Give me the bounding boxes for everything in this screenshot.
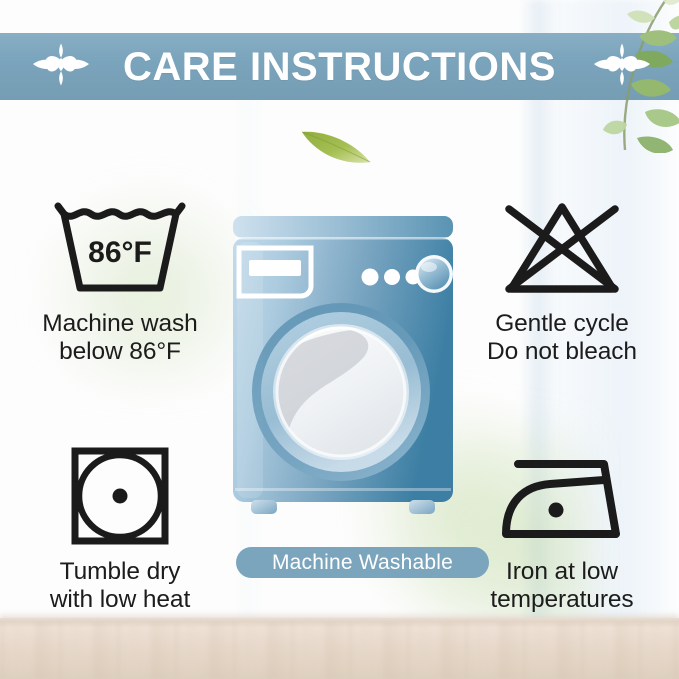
fleur-de-lis-icon xyxy=(30,41,92,92)
wash-tub-icon: 86°F xyxy=(10,192,230,304)
badge-label: Machine Washable xyxy=(272,552,453,573)
tumble-dry-icon xyxy=(10,440,230,552)
care-symbol-label: Machine wash below 86°F xyxy=(10,310,230,367)
care-symbol-machine-wash: 86°F Machine wash below 86°F xyxy=(10,192,230,367)
page-title: CARE INSTRUCTIONS xyxy=(123,47,556,87)
washing-machine-illustration xyxy=(229,214,457,524)
label-line-1: Machine wash xyxy=(10,310,230,338)
control-knob xyxy=(415,255,453,293)
label-line-2: below 86°F xyxy=(10,338,230,366)
fleur-de-lis-icon xyxy=(591,41,653,92)
floating-leaf-icon xyxy=(296,118,376,170)
washer-foot xyxy=(409,500,435,514)
care-symbol-label: Tumble dry with low heat xyxy=(10,558,230,615)
machine-washable-badge: Machine Washable xyxy=(236,547,489,578)
iron-icon xyxy=(452,440,672,552)
washer-door xyxy=(252,303,430,481)
crossed-triangle-icon xyxy=(452,192,672,304)
table-surface xyxy=(0,618,679,679)
care-symbol-iron: Iron at low temperatures xyxy=(452,440,672,615)
care-instructions-graphic: CARE INSTRUCTIONS xyxy=(0,0,679,679)
label-line-1: Tumble dry xyxy=(10,558,230,586)
label-line-1: Gentle cycle xyxy=(452,310,672,338)
label-line-2: with low heat xyxy=(10,586,230,614)
care-symbol-label: Gentle cycle Do not bleach xyxy=(452,310,672,367)
care-symbol-tumble-dry: Tumble dry with low heat xyxy=(10,440,230,615)
label-line-2: Do not bleach xyxy=(452,338,672,366)
care-symbol-do-not-bleach: Gentle cycle Do not bleach xyxy=(452,192,672,367)
wash-temperature-value: 86°F xyxy=(88,236,152,269)
washer-foot xyxy=(251,500,277,514)
table-wood-grain xyxy=(0,622,679,679)
label-line-2: temperatures xyxy=(452,586,672,614)
